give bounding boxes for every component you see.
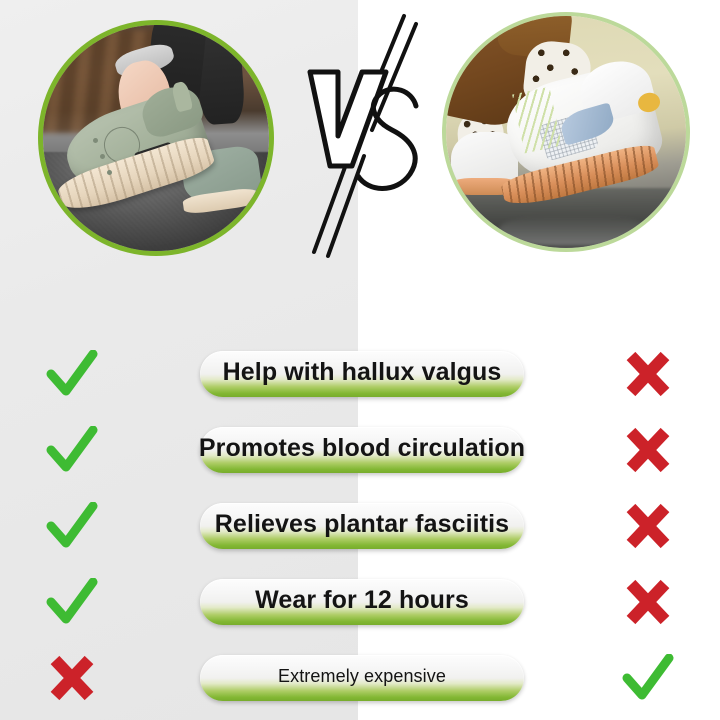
check-icon <box>45 350 99 398</box>
feature-label: Promotes blood circulation <box>199 436 525 465</box>
cross-icon <box>624 427 672 473</box>
left-product-photo[interactable] <box>38 20 274 256</box>
left-mark-check <box>22 350 122 398</box>
comparison-infographic: Help with hallux valgus Promotes blood c… <box>0 0 720 720</box>
right-mark-cross <box>598 351 698 397</box>
right-mark-cross <box>598 579 698 625</box>
lace-eyelet-icon <box>100 154 105 159</box>
feature-label: Help with hallux valgus <box>223 360 502 389</box>
cross-icon <box>624 351 672 397</box>
lace-eyelet-icon <box>93 138 98 143</box>
feature-pill[interactable]: Wear for 12 hours <box>200 579 524 625</box>
feature-pill[interactable]: Help with hallux valgus <box>200 351 524 397</box>
right-mark-cross <box>598 503 698 549</box>
check-icon <box>45 426 99 474</box>
left-mark-check <box>22 426 122 474</box>
left-photo-scene <box>43 25 269 251</box>
cross-icon <box>48 655 96 701</box>
puddle-reflection <box>499 216 648 246</box>
right-photo-scene <box>446 16 686 248</box>
left-mark-check <box>22 502 122 550</box>
versus-badge <box>300 10 440 260</box>
feature-pill[interactable]: Relieves plantar fasciitis <box>200 503 524 549</box>
feature-label: Extremely expensive <box>278 667 446 690</box>
product-photo-area <box>0 0 720 280</box>
right-mark-cross <box>598 427 698 473</box>
comparison-row: Extremely expensive <box>0 640 720 716</box>
vs-icon <box>300 10 440 260</box>
cross-icon <box>624 503 672 549</box>
right-mark-check <box>598 654 698 702</box>
left-mark-cross <box>22 655 122 701</box>
feature-pill[interactable]: Extremely expensive <box>200 655 524 701</box>
feature-label: Wear for 12 hours <box>255 588 469 617</box>
comparison-row: Promotes blood circulation <box>0 412 720 488</box>
comparison-row: Wear for 12 hours <box>0 564 720 640</box>
right-product-photo[interactable] <box>442 12 690 252</box>
comparison-row: Relieves plantar fasciitis <box>0 488 720 564</box>
feature-pill[interactable]: Promotes blood circulation <box>200 427 524 473</box>
cross-icon <box>624 579 672 625</box>
feature-label: Relieves plantar fasciitis <box>215 512 509 541</box>
check-icon <box>45 578 99 626</box>
comparison-row: Help with hallux valgus <box>0 336 720 412</box>
check-icon <box>621 654 675 702</box>
feature-comparison-list: Help with hallux valgus Promotes blood c… <box>0 336 720 716</box>
left-mark-check <box>22 578 122 626</box>
check-icon <box>45 502 99 550</box>
